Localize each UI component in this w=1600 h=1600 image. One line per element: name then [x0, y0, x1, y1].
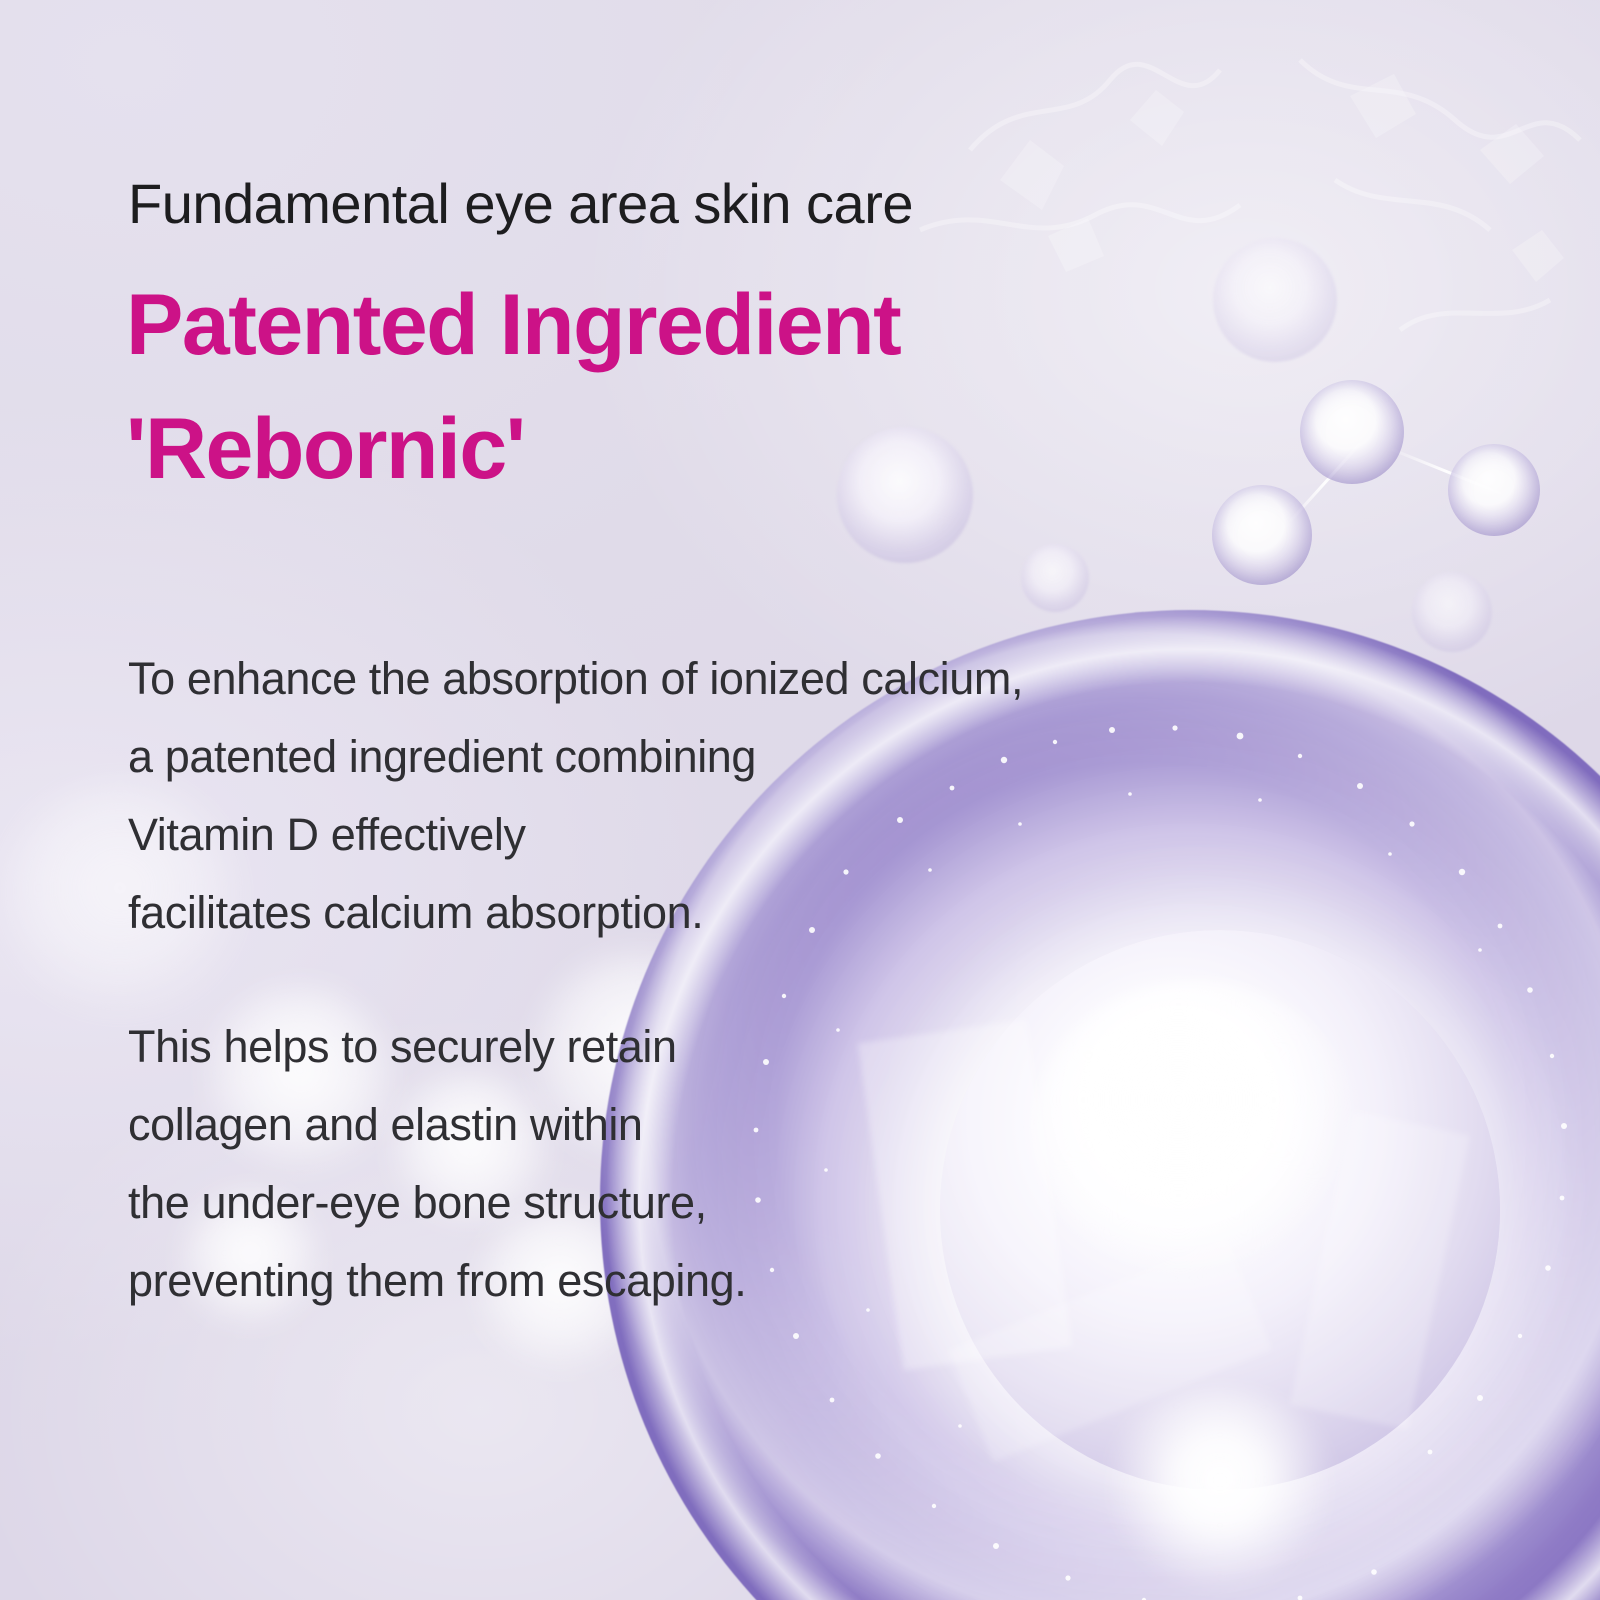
body-line: To enhance the absorption of ionized cal…	[128, 640, 1178, 718]
headline-line-2: 'Rebornic'	[126, 406, 900, 492]
body-line: the under-eye bone structure,	[128, 1164, 1178, 1242]
body-line: preventing them from escaping.	[128, 1242, 1178, 1320]
body-line: facilitates calcium absorption.	[128, 874, 1178, 952]
body-line: collagen and elastin within	[128, 1086, 1178, 1164]
body-copy: To enhance the absorption of ionized cal…	[128, 640, 1178, 1320]
eyebrow-heading: Fundamental eye area skin care	[128, 172, 913, 236]
body-line: Vitamin D effectively	[128, 796, 1178, 874]
headline-line-1: Patented Ingredient	[126, 282, 900, 368]
text-layer: Fundamental eye area skin care Patented …	[0, 0, 1600, 1600]
paragraph-1: To enhance the absorption of ionized cal…	[128, 640, 1178, 952]
body-line: This helps to securely retain	[128, 1008, 1178, 1086]
promo-banner: Fundamental eye area skin care Patented …	[0, 0, 1600, 1600]
body-line: a patented ingredient combining	[128, 718, 1178, 796]
page-title: Patented Ingredient 'Rebornic'	[126, 282, 900, 530]
paragraph-2: This helps to securely retain collagen a…	[128, 1008, 1178, 1320]
